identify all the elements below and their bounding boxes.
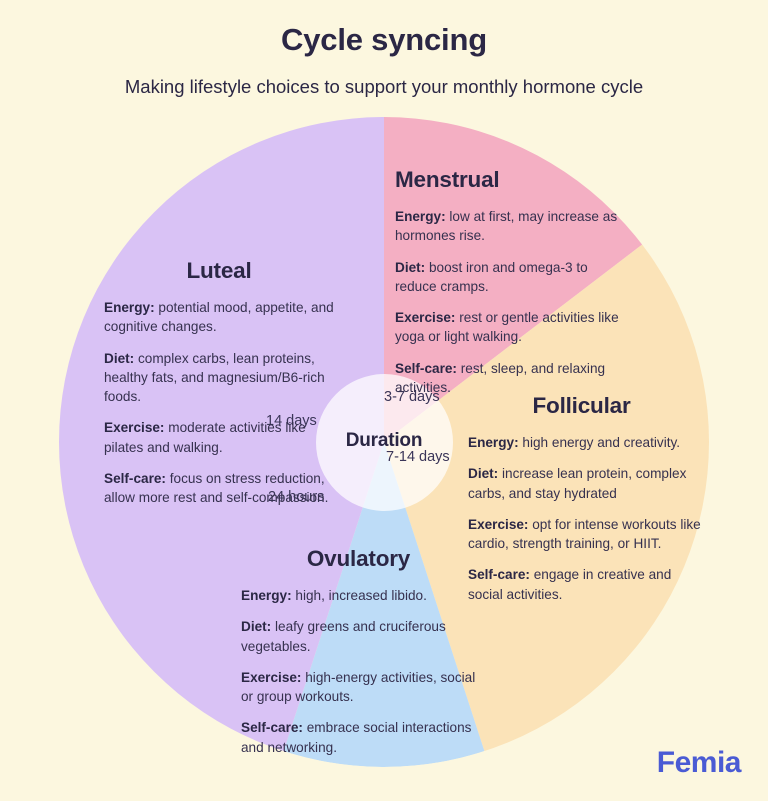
section-item-label: Self-care:: [104, 471, 166, 486]
section-item: Diet: increase lean protein, complex car…: [468, 464, 703, 503]
section-item-label: Diet:: [468, 466, 498, 481]
section-luteal: Luteal Energy: potential mood, appetite,…: [104, 258, 334, 508]
section-menstrual: Menstrual Energy: low at first, may incr…: [395, 167, 620, 397]
section-item: Diet: boost iron and omega-3 to reduce c…: [395, 258, 620, 297]
section-item-label: Energy:: [395, 209, 446, 224]
section-item-label: Self-care:: [468, 567, 530, 582]
section-item: Energy: potential mood, appetite, and co…: [104, 298, 334, 337]
section-item: Diet: leafy greens and cruciferous veget…: [241, 617, 476, 656]
femia-logo: Femia: [657, 746, 741, 780]
section-follicular: Follicular Energy: high energy and creat…: [468, 393, 703, 604]
section-item: Energy: low at first, may increase as ho…: [395, 207, 620, 246]
duration-follicular: 7-14 days: [386, 449, 450, 465]
section-item-label: Self-care:: [395, 361, 457, 376]
header: Cycle syncing Making lifestyle choices t…: [0, 0, 768, 98]
section-item-label: Diet:: [395, 260, 425, 275]
section-item-label: Energy:: [468, 435, 519, 450]
section-item-label: Energy:: [241, 588, 292, 603]
section-item-label: Diet:: [241, 619, 271, 634]
section-item-label: Self-care:: [241, 720, 303, 735]
section-item: Self-care: engage in creative and social…: [468, 565, 703, 604]
section-item-label: Energy:: [104, 300, 155, 315]
page-subtitle: Making lifestyle choices to support your…: [0, 76, 768, 98]
section-item: Energy: high energy and creativity.: [468, 433, 703, 452]
section-title-luteal: Luteal: [104, 258, 334, 284]
section-item-label: Diet:: [104, 351, 134, 366]
section-title-follicular: Follicular: [460, 393, 703, 419]
section-item: Self-care: focus on stress reduction, al…: [104, 469, 334, 508]
section-item: Exercise: opt for intense workouts like …: [468, 515, 703, 554]
section-item: Exercise: moderate activities like pilat…: [104, 418, 334, 457]
section-items-follicular: Energy: high energy and creativity.Diet:…: [468, 433, 703, 604]
section-item-label: Exercise:: [104, 420, 164, 435]
section-items-menstrual: Energy: low at first, may increase as ho…: [395, 207, 620, 397]
section-item: Exercise: high-energy activities, social…: [241, 668, 476, 707]
section-item-label: Exercise:: [468, 517, 528, 532]
section-ovulatory: Ovulatory Energy: high, increased libido…: [241, 546, 476, 757]
section-item-label: Exercise:: [395, 310, 455, 325]
section-item: Energy: high, increased libido.: [241, 586, 476, 605]
section-item: Diet: complex carbs, lean proteins, heal…: [104, 349, 334, 407]
section-title-menstrual: Menstrual: [395, 167, 620, 193]
section-item-label: Exercise:: [241, 670, 301, 685]
section-items-luteal: Energy: potential mood, appetite, and co…: [104, 298, 334, 508]
page-title: Cycle syncing: [0, 22, 768, 58]
section-title-ovulatory: Ovulatory: [241, 546, 476, 572]
section-item: Exercise: rest or gentle activities like…: [395, 308, 620, 347]
section-items-ovulatory: Energy: high, increased libido.Diet: lea…: [241, 586, 476, 757]
section-item: Self-care: rest, sleep, and relaxing act…: [395, 359, 620, 398]
section-item: Self-care: embrace social interactions a…: [241, 718, 476, 757]
